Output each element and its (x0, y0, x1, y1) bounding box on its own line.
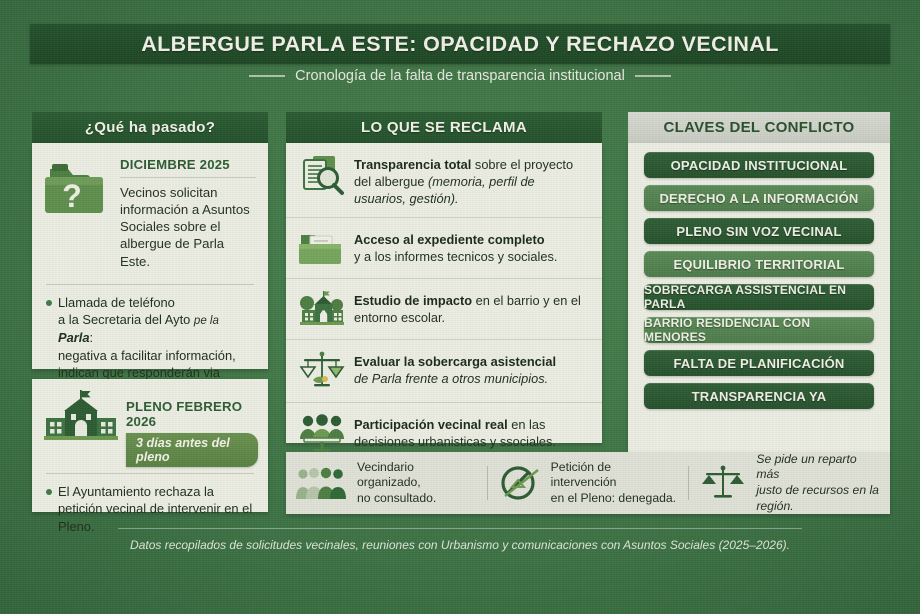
subtitle-rule-right (635, 75, 671, 77)
timeline-date-label: DICIEMBRE 2025 (120, 157, 256, 178)
key-badge[interactable]: FALTA DE PLANIFICACIÓN (644, 350, 874, 376)
subtitle-text: Cronología de la falta de transparencia … (295, 68, 625, 84)
keys-panel: OPACIDAD INSTITUCIONAL DERECHO A LA INFO… (628, 143, 890, 455)
summary-item: Vecindario organizado, no consultado. (286, 460, 487, 507)
claim-italic: de Parla frente a otros municipios. (354, 371, 548, 386)
claim-bold: Evaluar la sobercarga asistencial (354, 354, 556, 369)
summary-line-2: no consultado. (357, 491, 436, 505)
no-entry-crossed-icon (498, 463, 542, 503)
scales-icon (699, 464, 747, 502)
folder-question-icon: ? (44, 157, 112, 270)
bullet-line-2-small: pe la (194, 315, 219, 327)
summary-item: Petición de intervención en el Pleno: de… (488, 460, 689, 507)
column-left-heading: ¿Qué ha pasado? (32, 112, 268, 143)
school-building-icon (299, 289, 345, 329)
header-subtitle: Cronología de la falta de transparencia … (0, 68, 920, 84)
bullet-line-2-prefix: a la Secretaria del Ayto (58, 312, 194, 327)
summary-item: Se pide un reparto más justo de recursos… (689, 452, 890, 514)
summary-line-2: en el Pleno: denegada. (551, 491, 676, 505)
claim-bold: Estudio de impacto (354, 293, 472, 308)
claim-rest: y a los informes tecnicos y sociales. (354, 249, 557, 264)
summary-strip: Vecindario organizado, no consultado. Pe… (286, 452, 890, 514)
claims-panel: Transparencia total sobre el proyecto de… (286, 143, 602, 443)
column-middle-heading: LO QUE SE RECLAMA (286, 112, 602, 143)
timeline-card-pleno: PLENO FEBRERO 2026 3 días antes del plen… (32, 379, 268, 512)
key-badge[interactable]: OPACIDAD INSTITUCIONAL (644, 152, 874, 178)
claim-item: Transparencia total sobre el proyecto de… (286, 143, 602, 217)
pleno-ribbon-badge: 3 días antes del pleno (126, 433, 258, 467)
summary-line-2: justo de recursos en la región. (756, 483, 879, 513)
key-badge[interactable]: BARRIO RESIDENCIAL CON MENORES (644, 317, 874, 343)
key-badge[interactable]: SOBRECARGA ASSISTENCIAL EN PARLA (644, 284, 874, 310)
infographic-canvas: ALBERGUE PARLA ESTE: OPACIDAD Y RECHAZO … (0, 0, 920, 614)
key-badge[interactable]: DERECHO A LA INFORMACIÓN (644, 185, 874, 211)
bullet-line-1: Llamada de teléfono (58, 295, 175, 310)
bullet-line-2-bold: Parla (58, 330, 90, 345)
claim-item: Evaluar la sobercarga asistencialde Parl… (286, 339, 602, 402)
pleno-title-label: PLENO FEBRERO 2026 (126, 399, 258, 429)
summary-line-1: Petición de intervención (551, 460, 617, 490)
claim-bold: Transparencia total (354, 157, 471, 172)
timeline-body-text: Vecinos solicitan información a Asuntos … (120, 184, 256, 270)
bullet-line-2-suffix: : (90, 330, 94, 345)
key-badge[interactable]: EQUILIBRIO TERRITORIAL (644, 251, 874, 277)
balance-scale-icon (299, 350, 345, 392)
key-badge[interactable]: TRANSPARENCIA YA (644, 383, 874, 409)
claim-bold: Acceso al expediente completo (354, 232, 545, 247)
svg-text:?: ? (62, 178, 82, 214)
summary-line-1: Se pide un reparto más (756, 452, 856, 482)
claim-bold: Participación vecinal real (354, 417, 508, 432)
pleno-bullet-rejection: El Ayuntamiento rechaza la petición veci… (32, 474, 268, 545)
town-hall-icon (42, 389, 120, 443)
timeline-card-december: ? DICIEMBRE 2025 Vecinos solicitan infor… (32, 143, 268, 369)
bullet-dot-icon (46, 300, 52, 306)
subtitle-rule-left (249, 75, 285, 77)
document-magnifier-icon (299, 153, 345, 197)
open-folder-icon (299, 228, 345, 268)
people-meeting-icon (299, 413, 345, 453)
summary-line-1: Vecindario organizado, (357, 460, 421, 490)
footer-divider (118, 528, 802, 529)
column-right-heading: CLAVES DEL CONFLICTO (628, 112, 890, 143)
group-people-icon (296, 465, 348, 501)
key-badge[interactable]: PLENO SIN VOZ VECINAL (644, 218, 874, 244)
claim-item: Acceso al expediente completo y a los in… (286, 217, 602, 278)
bullet-dot-icon-2 (46, 489, 52, 495)
page-title: ALBERGUE PARLA ESTE: OPACIDAD Y RECHAZO … (141, 32, 779, 57)
header-title-bar: ALBERGUE PARLA ESTE: OPACIDAD Y RECHAZO … (30, 24, 890, 64)
bullet-line-3: negativa a facilitar información, (58, 348, 236, 363)
claim-item: Estudio de impacto en el barrio y en el … (286, 278, 602, 339)
footer-note: Datos recopilados de solicitudes vecinal… (0, 538, 920, 552)
